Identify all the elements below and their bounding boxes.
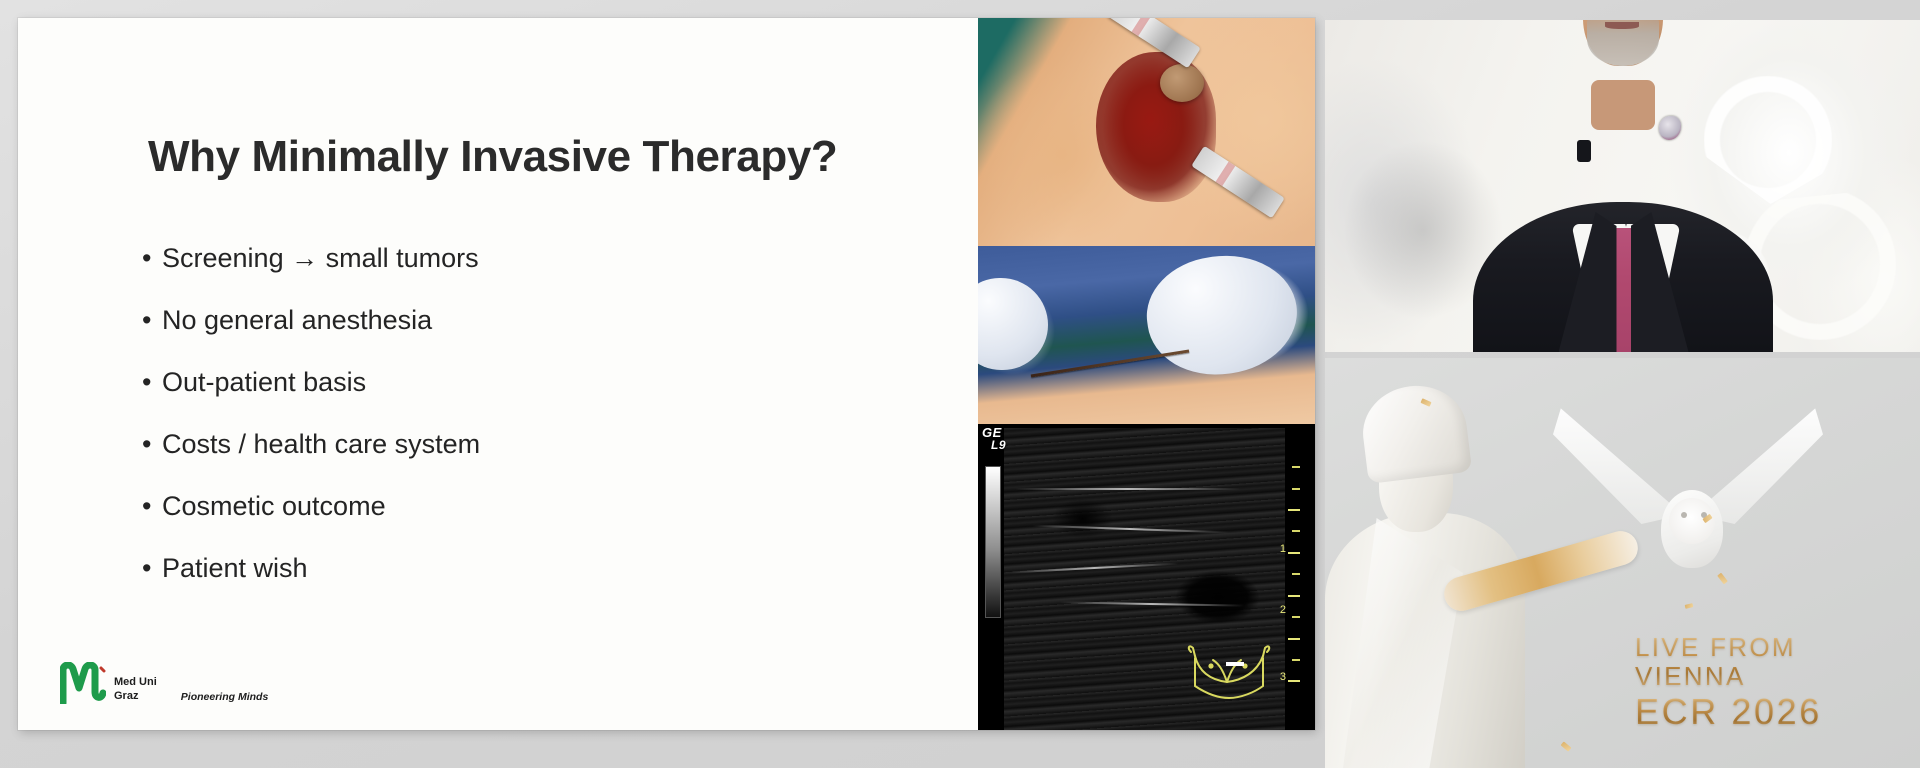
bullet-text: Screening → small tumors (162, 243, 942, 274)
live-from-vienna-label: LIVE FROM VIENNA (1635, 633, 1910, 691)
logo-tagline: Pioneering Minds (181, 691, 269, 703)
bullet-text: No general anesthesia (162, 305, 942, 336)
bullet-marker-icon: • (142, 553, 162, 584)
slide-title: Why Minimally Invasive Therapy? (148, 133, 938, 181)
list-item: • Patient wish (142, 553, 942, 584)
bullet-text: Costs / health care system (162, 429, 942, 460)
slide-content-area: Why Minimally Invasive Therapy? • Screen… (18, 18, 978, 730)
bullet-text: Cosmetic outcome (162, 491, 942, 522)
depth-label-2: 2 (1280, 605, 1286, 616)
list-item: • Screening → small tumors (142, 243, 942, 274)
speaker-figure (1473, 84, 1773, 352)
gloved-hand-right (1140, 246, 1305, 384)
owl-graphic (1553, 406, 1813, 596)
gloved-hand-left (978, 278, 1048, 370)
slide-bullet-list: • Screening → small tumors • No general … (142, 243, 942, 615)
ultrasound-content: GE L9 (978, 424, 1315, 730)
bullet-marker-icon: • (142, 367, 162, 398)
ecr-2026-label: ECR 2026 (1635, 692, 1910, 732)
event-branding-text: LIVE FROM VIENNA ECR 2026 (1635, 633, 1910, 732)
list-item: • Cosmetic outcome (142, 491, 942, 522)
statue-helmet (1358, 380, 1472, 484)
event-branding-panel: LIVE FROM VIENNA ECR 2026 (1325, 358, 1920, 768)
tumor-tissue (1160, 64, 1204, 102)
needle-photo-content (978, 246, 1315, 424)
app-stage: Why Minimally Invasive Therapy? • Screen… (0, 0, 1920, 768)
owl-eye-left (1681, 512, 1687, 518)
owl-wing-left (1553, 406, 1683, 524)
meduni-graz-logo: Med Uni Graz Pioneering Minds (60, 662, 268, 704)
ultrasound-depth-scale: 1 2 3 (1286, 450, 1306, 718)
list-item: • Costs / health care system (142, 429, 942, 460)
speaker-video-feed[interactable] (1325, 20, 1920, 352)
mu-monogram-icon (60, 662, 106, 704)
depth-label-3: 3 (1280, 672, 1286, 683)
bullet-text: Out-patient basis (162, 367, 942, 398)
open-breast-surgery-photo (978, 18, 1315, 246)
logo-university-name: Med Uni Graz (114, 676, 157, 703)
bullet-text: Patient wish (162, 553, 942, 584)
medical-image-column: GE L9 (978, 18, 1315, 730)
ultrasound-vendor-label: GE L9 (982, 426, 1006, 451)
list-item: • Out-patient basis (142, 367, 942, 398)
breast-body-marker-icon (1183, 642, 1275, 704)
slide-inner: Why Minimally Invasive Therapy? • Screen… (18, 18, 1315, 730)
grayscale-bar-icon (985, 466, 1001, 618)
slide-accent-bar (18, 716, 1315, 730)
biopsy-needle-icon (1031, 350, 1189, 378)
surgery-photo-content (978, 18, 1315, 246)
lapel-pin-icon (1659, 116, 1681, 140)
lapel-microphone-icon (1577, 140, 1591, 162)
presentation-slide[interactable]: Why Minimally Invasive Therapy? • Screen… (18, 18, 1315, 730)
logo-wordmark: Med Uni Graz Pioneering Minds (114, 676, 268, 704)
bullet-marker-icon: • (142, 491, 162, 522)
depth-label-1: 1 (1280, 544, 1286, 555)
bullet-marker-icon: • (142, 429, 162, 460)
breast-ultrasound-scan: GE L9 (978, 424, 1315, 730)
ultrasound-probe-label: L9 (991, 439, 1006, 451)
mouth (1605, 22, 1639, 29)
neck (1591, 80, 1655, 130)
retractor-icon (1191, 146, 1285, 218)
bullet-marker-icon: • (142, 305, 162, 336)
bullet-marker-icon: • (142, 243, 162, 274)
list-item: • No general anesthesia (142, 305, 942, 336)
needle-procedure-gloved-hands-photo (978, 246, 1315, 424)
